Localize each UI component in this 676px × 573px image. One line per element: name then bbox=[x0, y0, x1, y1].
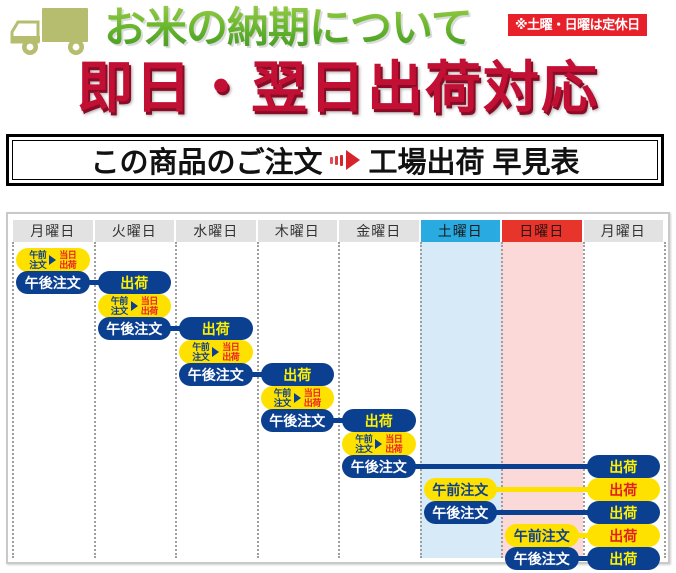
am-order-same-day-pill: 午前注文当日出荷 bbox=[179, 340, 253, 364]
same-day-ship-label: 当日出荷 bbox=[222, 342, 239, 362]
connector-line bbox=[491, 487, 593, 492]
banner: この商品のご注文 工場出荷 早見表 bbox=[6, 134, 664, 186]
column-separator bbox=[338, 242, 340, 558]
pm-order-pill: 午後注文 bbox=[98, 317, 172, 340]
column-header-水曜日: 水曜日 bbox=[176, 220, 256, 242]
arrow-right-icon bbox=[49, 255, 56, 265]
ship-pill: 出荷 bbox=[342, 409, 416, 432]
column-header-月曜日: 月曜日 bbox=[584, 220, 664, 242]
shipping-schedule-table: 月曜日火曜日水曜日木曜日金曜日土曜日日曜日月曜日午前注文当日出荷午後注文出荷午前… bbox=[6, 212, 670, 564]
column-separator bbox=[664, 242, 666, 558]
column-header-金曜日: 金曜日 bbox=[339, 220, 419, 242]
am-order-label: 午前注文 bbox=[111, 296, 128, 316]
am-order-same-day-pill: 午前注文当日出荷 bbox=[16, 248, 90, 272]
pm-order-pill: 午後注文 bbox=[424, 501, 498, 524]
arrow-right-icon bbox=[294, 393, 301, 403]
pm-order-pill: 午後注文 bbox=[261, 409, 335, 432]
column-header-日曜日: 日曜日 bbox=[502, 220, 582, 242]
ship-pill: 出荷 bbox=[179, 317, 253, 340]
banner-inner: この商品のご注文 工場出荷 早見表 bbox=[12, 140, 658, 180]
am-order-label: 午前注文 bbox=[192, 342, 209, 362]
banner-text-before: この商品のご注文 bbox=[90, 139, 322, 181]
column-header-木曜日: 木曜日 bbox=[258, 220, 338, 242]
same-day-ship-label: 当日出荷 bbox=[59, 250, 76, 270]
am-order-pill: 午前注文 bbox=[505, 524, 579, 547]
ship-pill: 出荷 bbox=[587, 501, 661, 524]
header: お米の納期について お米の納期について ※土曜・日曜は定休日 即日・翌日出荷対応 bbox=[0, 0, 676, 128]
connector-line bbox=[410, 464, 593, 469]
column-header-月曜日: 月曜日 bbox=[13, 220, 93, 242]
ship-pill: 出荷 bbox=[587, 478, 661, 501]
column-header-火曜日: 火曜日 bbox=[95, 220, 175, 242]
connector-line bbox=[491, 510, 593, 515]
am-order-pill: 午前注文 bbox=[424, 478, 498, 501]
ship-pill: 出荷 bbox=[98, 271, 172, 294]
page-title: お米の納期について bbox=[104, 2, 472, 54]
same-day-ship-label: 当日出荷 bbox=[385, 434, 402, 454]
am-order-label: 午前注文 bbox=[29, 250, 46, 270]
am-order-same-day-pill: 午前注文当日出荷 bbox=[98, 294, 172, 318]
same-day-ship-label: 当日出荷 bbox=[304, 388, 321, 408]
headline: 即日・翌日出荷対応 bbox=[0, 52, 676, 124]
arrow-right-icon bbox=[330, 150, 360, 170]
ship-pill: 出荷 bbox=[587, 547, 661, 570]
am-order-label: 午前注文 bbox=[274, 388, 291, 408]
am-order-same-day-pill: 午前注文当日出荷 bbox=[261, 386, 335, 410]
column-separator bbox=[175, 242, 177, 558]
same-day-ship-label: 当日出荷 bbox=[141, 296, 158, 316]
schedule-grid: 月曜日火曜日水曜日木曜日金曜日土曜日日曜日月曜日午前注文当日出荷午後注文出荷午前… bbox=[12, 218, 664, 558]
ship-pill: 出荷 bbox=[587, 524, 661, 547]
pm-order-pill: 午後注文 bbox=[342, 455, 416, 478]
am-order-label: 午前注文 bbox=[355, 434, 372, 454]
closed-days-badge: ※土曜・日曜は定休日 bbox=[508, 14, 647, 36]
pm-order-pill: 午後注文 bbox=[16, 271, 90, 294]
column-header-土曜日: 土曜日 bbox=[421, 220, 501, 242]
column-separator bbox=[257, 242, 259, 558]
banner-text-after: 工場出荷 早見表 bbox=[368, 139, 579, 181]
arrow-right-icon bbox=[375, 439, 382, 449]
banner-text: この商品のご注文 工場出荷 早見表 bbox=[90, 139, 579, 181]
truck-icon bbox=[8, 6, 100, 58]
arrow-right-icon bbox=[131, 301, 138, 311]
pm-order-pill: 午後注文 bbox=[505, 547, 579, 570]
ship-pill: 出荷 bbox=[261, 363, 335, 386]
pm-order-pill: 午後注文 bbox=[179, 363, 253, 386]
arrow-right-icon bbox=[212, 347, 219, 357]
column-separator bbox=[94, 242, 96, 558]
column-separator bbox=[420, 242, 422, 558]
am-order-same-day-pill: 午前注文当日出荷 bbox=[342, 432, 416, 456]
ship-pill: 出荷 bbox=[587, 455, 661, 478]
column-separator bbox=[12, 242, 14, 558]
